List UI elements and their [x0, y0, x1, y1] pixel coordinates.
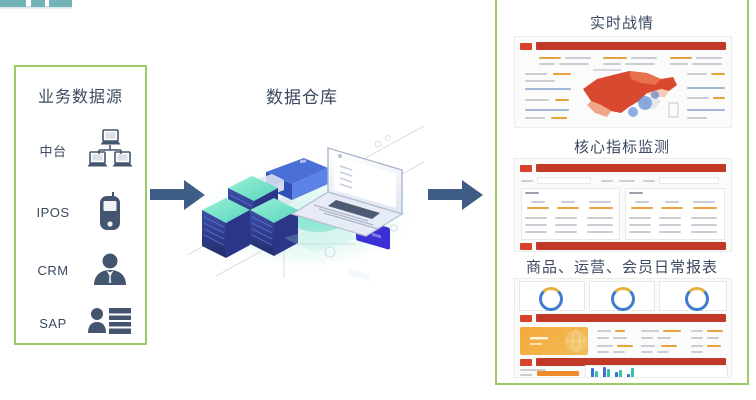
- metric-sub: [691, 337, 703, 339]
- kpi-row: [691, 224, 717, 226]
- metric-label: [692, 63, 722, 65]
- three-laptops-network-icon: [82, 128, 138, 172]
- side-metric: [687, 87, 725, 89]
- side-metric: [553, 73, 571, 75]
- source-item-sap[interactable]: SAP: [24, 300, 142, 346]
- source-item-crm[interactable]: CRM: [24, 247, 142, 293]
- side-metric: [525, 109, 569, 111]
- metric-label: [597, 330, 611, 332]
- metric-value: [707, 345, 721, 347]
- bar: [591, 368, 594, 378]
- side-metric: [525, 73, 547, 75]
- dashboard-logo-tag: [520, 359, 532, 366]
- dashboard-logo-tag: [520, 165, 532, 172]
- business-data-source-panel: 业务数据源 中台: [14, 65, 147, 345]
- source-item-ipos[interactable]: IPOS: [24, 189, 142, 235]
- kpi-label: [589, 201, 611, 203]
- bar: [619, 370, 622, 378]
- bar: [631, 368, 634, 378]
- kpi-donut-dashboard-thumbnail[interactable]: [514, 158, 732, 252]
- kpi-label: [635, 201, 649, 203]
- side-metric: [555, 99, 569, 101]
- donut-chart: [685, 287, 709, 311]
- metric-value: [707, 330, 723, 332]
- dashboard-section-title-daily-report: 商品、运营、会员日常报表: [497, 256, 747, 277]
- progress-bar: [537, 371, 579, 376]
- side-metric: [687, 117, 707, 119]
- dashboard-header-bar: [536, 164, 726, 172]
- filter-label: [601, 180, 613, 182]
- side-metric: [525, 88, 571, 90]
- metric-value: [539, 57, 561, 59]
- kpi-row: [691, 217, 717, 219]
- kpi-label: [665, 201, 679, 203]
- china-map-chart: [577, 67, 683, 123]
- dashboard-logo-tag: [520, 43, 532, 50]
- dashboard-header-bar-2: [536, 242, 726, 250]
- kpi-value: [661, 207, 683, 209]
- metric-value: [617, 345, 633, 347]
- bar: [627, 374, 630, 378]
- metric-value: [663, 330, 681, 332]
- source-item-label: SAP: [24, 316, 82, 331]
- metric-value: [603, 57, 627, 59]
- metric-sub: [641, 351, 653, 353]
- dashboard-header-bar: [536, 42, 726, 50]
- dashboard-output-panel: 实时战情: [495, 0, 749, 385]
- metric-value: [670, 57, 692, 59]
- kpi-value: [693, 207, 717, 209]
- filter-input[interactable]: [537, 177, 591, 184]
- metric-sub: [597, 351, 609, 353]
- kpi-value: [631, 207, 653, 209]
- dashboard-section-title-realtime: 实时战情: [497, 12, 747, 33]
- filter-label: [643, 180, 655, 182]
- source-item-label: CRM: [24, 263, 82, 278]
- bar: [603, 367, 606, 378]
- kpi-row: [587, 231, 613, 233]
- kpi-row: [691, 231, 717, 233]
- filter-input[interactable]: [659, 177, 719, 184]
- dashboard-header-bar: [536, 314, 726, 322]
- source-item-zhongtai[interactable]: 中台: [24, 127, 142, 173]
- mobile-phone-icon: [82, 190, 138, 234]
- dashboard-logo-tag: [520, 243, 532, 250]
- daily-report-dashboard-thumbnail[interactable]: [514, 278, 732, 378]
- dashboard-logo-tag: [520, 315, 532, 322]
- side-metric: [687, 97, 709, 99]
- metric-value: [661, 345, 677, 347]
- axis-tick: [520, 374, 532, 376]
- metric-label: [641, 330, 659, 332]
- metric-label: [670, 63, 688, 65]
- metric-value: [631, 57, 657, 59]
- metric-sub: [691, 351, 703, 353]
- side-metric: [525, 117, 545, 119]
- kpi-row: [525, 217, 547, 219]
- metric-sub: [641, 337, 653, 339]
- kpi-group-title: [525, 192, 539, 194]
- kpi-row: [629, 224, 651, 226]
- kpi-row: [587, 224, 613, 226]
- donut-chart: [611, 287, 635, 311]
- kpi-label: [561, 201, 575, 203]
- person-with-list-icon: [82, 301, 138, 345]
- header-fragment-fade: [0, 6, 72, 10]
- metric-sub: [597, 337, 609, 339]
- metric-sub: [657, 337, 671, 339]
- metric-sub: [657, 351, 669, 353]
- metric-sub: [707, 337, 719, 339]
- kpi-row: [659, 231, 681, 233]
- metric-label: [559, 63, 589, 65]
- side-metric: [525, 99, 549, 101]
- kpi-row: [525, 224, 547, 226]
- kpi-row: [659, 217, 681, 219]
- china-map-realtime-dashboard-thumbnail[interactable]: [514, 36, 732, 128]
- bar: [595, 371, 598, 378]
- kpi-label: [693, 201, 715, 203]
- side-metric: [687, 109, 725, 111]
- data-warehouse-title: 数据仓库: [232, 83, 372, 108]
- metric-sub: [613, 337, 627, 339]
- metric-value: [696, 57, 722, 59]
- kpi-label: [531, 201, 545, 203]
- kpi-value: [557, 207, 579, 209]
- user-person-icon: [82, 248, 138, 292]
- kpi-row: [629, 217, 651, 219]
- source-item-label: 中台: [24, 141, 82, 160]
- kpi-row: [629, 231, 651, 233]
- arrow-warehouse-to-dashboards: [428, 178, 484, 212]
- cut-off-header-fragment: [0, 0, 72, 7]
- kpi-row: [555, 231, 577, 233]
- kpi-value: [589, 207, 613, 209]
- metric-label: [641, 345, 655, 347]
- bar: [615, 372, 618, 378]
- side-metric: [551, 117, 567, 119]
- metric-label: [625, 63, 655, 65]
- side-metric: [711, 73, 725, 75]
- metric-label: [597, 345, 613, 347]
- donut-chart: [539, 287, 563, 311]
- metric-label: [603, 63, 621, 65]
- metric-value: [565, 57, 591, 59]
- kpi-row: [525, 231, 547, 233]
- kpi-row: [659, 224, 681, 226]
- dashboard-section-title-kpi: 核心指标监测: [497, 136, 747, 157]
- kpi-value: [527, 207, 549, 209]
- filter-label: [521, 180, 533, 182]
- metric-sub: [613, 351, 625, 353]
- metric-label: [691, 330, 703, 332]
- side-metric: [525, 80, 555, 82]
- kpi-row: [587, 217, 613, 219]
- metric-label: [539, 63, 555, 65]
- filter-label: [619, 180, 635, 182]
- member-card-visual: [520, 327, 588, 355]
- kpi-group-title: [629, 192, 643, 194]
- business-data-source-title: 业务数据源: [16, 83, 145, 107]
- source-item-label: IPOS: [24, 205, 82, 220]
- side-metric: [713, 97, 725, 99]
- side-metric: [687, 73, 707, 75]
- kpi-row: [555, 224, 577, 226]
- metric-label: [691, 345, 703, 347]
- isometric-data-center-illustration: [188, 118, 424, 283]
- kpi-row: [555, 217, 577, 219]
- metric-value: [615, 330, 625, 332]
- bar: [607, 369, 610, 378]
